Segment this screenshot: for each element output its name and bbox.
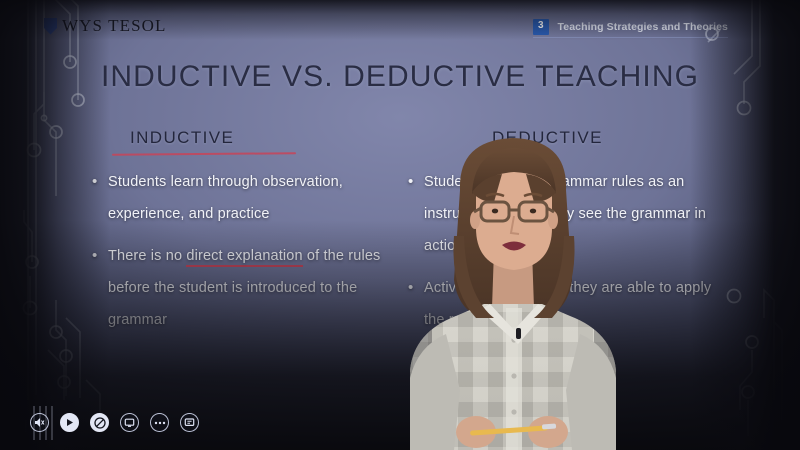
annotate-off-icon[interactable] xyxy=(90,413,109,432)
frame-vignette xyxy=(0,0,800,450)
present-icon[interactable] xyxy=(180,413,199,432)
more-icon[interactable] xyxy=(150,413,169,432)
play-icon[interactable] xyxy=(60,413,79,432)
mute-icon[interactable] xyxy=(30,413,49,432)
video-player: WYS TESOL 3 Teaching Strategies and Theo… xyxy=(0,0,800,450)
player-controls[interactable] xyxy=(30,413,199,432)
screen-icon[interactable] xyxy=(120,413,139,432)
